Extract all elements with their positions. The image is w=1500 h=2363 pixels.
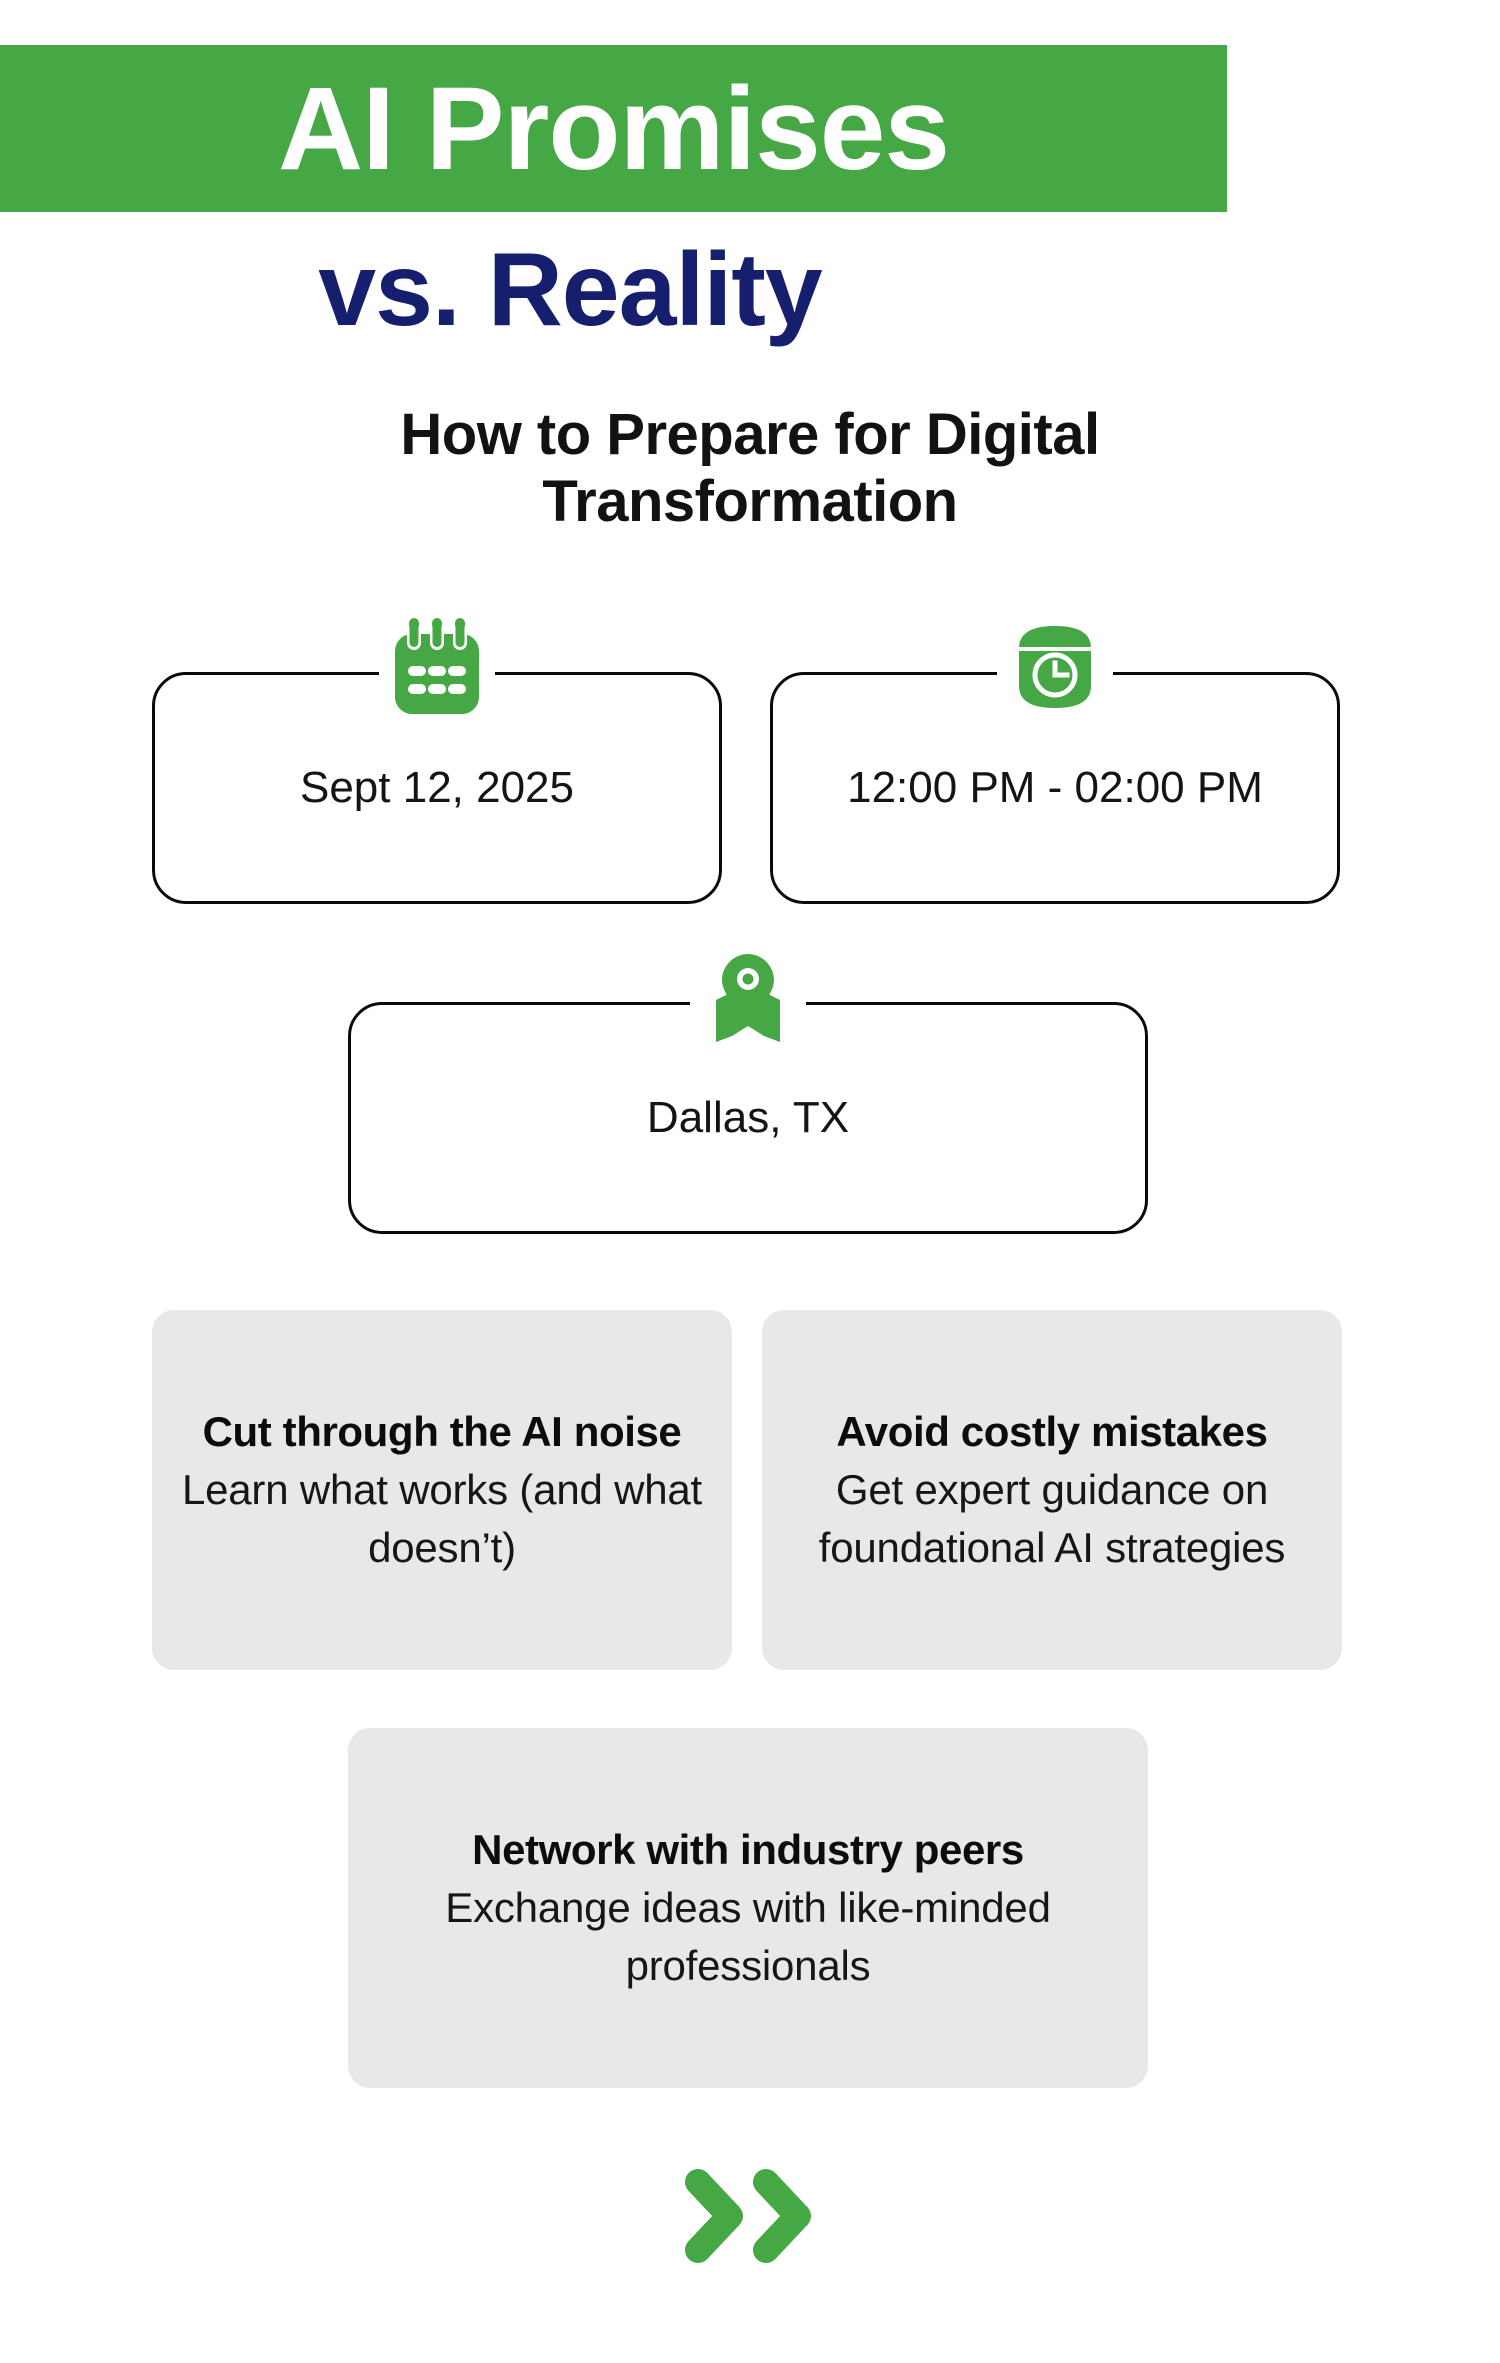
benefit-title: Network with industry peers (472, 1821, 1024, 1879)
benefit-body: Learn what works (and what doesn’t) (178, 1461, 706, 1577)
event-date-label: Sept 12, 2025 (152, 763, 722, 813)
chevron-right-icon-2 (752, 2168, 816, 2264)
event-location-card: Dallas, TX (348, 1002, 1148, 1234)
benefit-card: Avoid costly mistakes Get expert guidanc… (762, 1310, 1342, 1670)
benefit-card: Cut through the AI noise Learn what work… (152, 1310, 732, 1670)
title-banner: AI Promises (0, 45, 1227, 212)
page-subtitle: How to Prepare for Digital Transformatio… (200, 402, 1300, 535)
clock-icon (1009, 618, 1101, 714)
benefit-title: Cut through the AI noise (203, 1403, 682, 1461)
map-pin-icon (702, 948, 794, 1044)
event-location-label: Dallas, TX (348, 1093, 1148, 1143)
event-time-card: 12:00 PM - 02:00 PM (770, 672, 1340, 904)
calendar-icon (391, 618, 483, 714)
title-line-2: vs. Reality (0, 238, 1140, 342)
benefit-card: Network with industry peers Exchange ide… (348, 1728, 1148, 2088)
chevron-right-icon-1 (684, 2168, 748, 2264)
title-line-1: AI Promises (278, 70, 949, 188)
poster-canvas: AI Promises vs. Reality How to Prepare f… (0, 0, 1500, 2363)
benefit-body: Get expert guidance on foundational AI s… (788, 1461, 1316, 1577)
event-time-label: 12:00 PM - 02:00 PM (770, 763, 1340, 813)
benefit-body: Exchange ideas with like-minded professi… (374, 1879, 1122, 1995)
benefit-title: Avoid costly mistakes (836, 1403, 1267, 1461)
double-chevron-right-icon (0, 2168, 1500, 2264)
event-date-card: Sept 12, 2025 (152, 672, 722, 904)
